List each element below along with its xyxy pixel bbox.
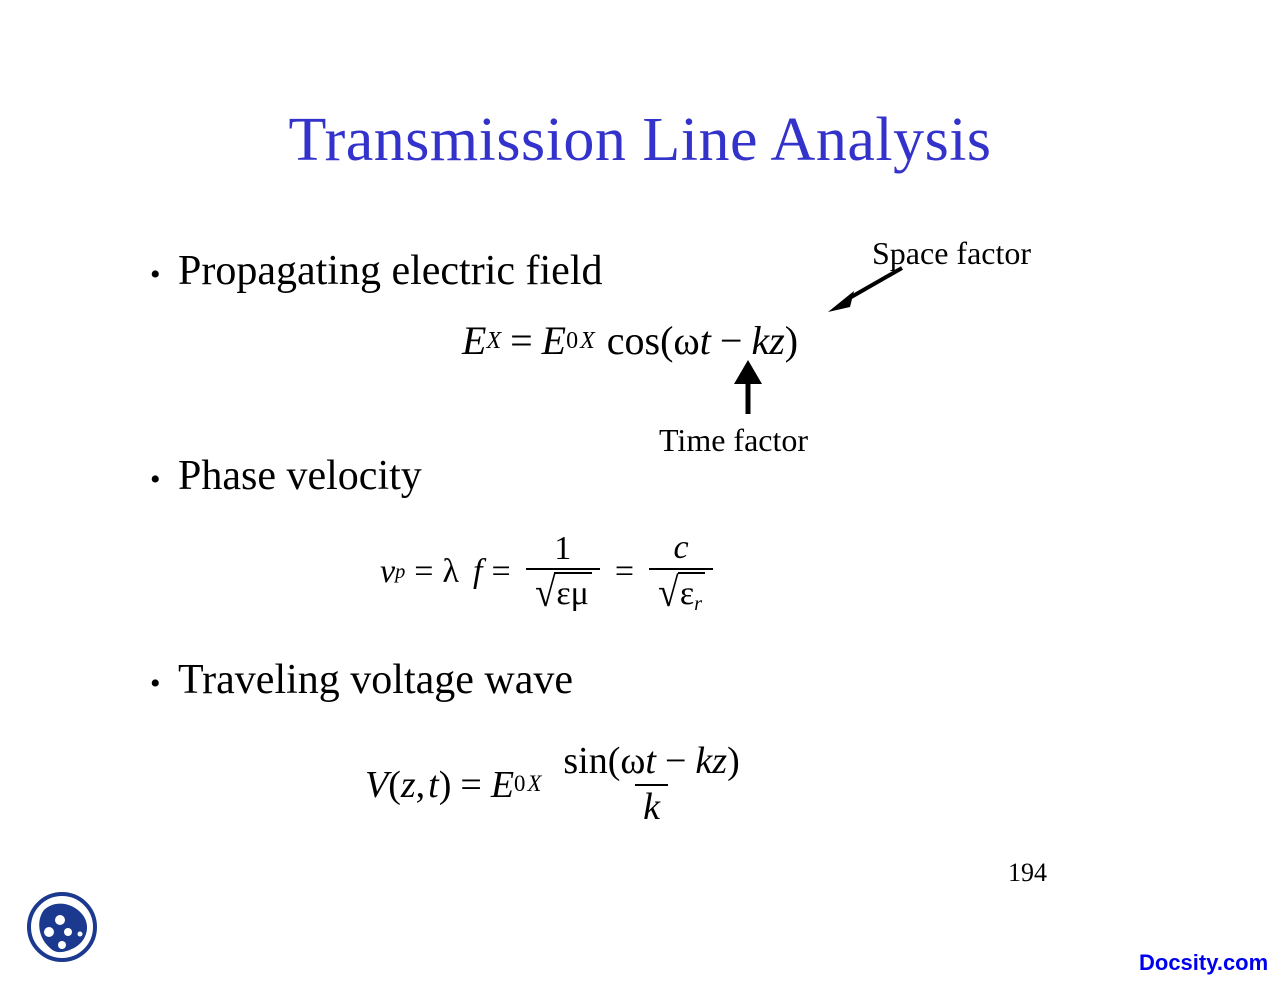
formula3-numerator: sin(ωt−kz) <box>555 742 747 784</box>
formula3-equals: = <box>460 763 481 807</box>
formula2-denominator-1: √ εμ <box>526 568 600 614</box>
formula2-lhs-sub: p <box>395 561 405 583</box>
formula2-fraction-1: 1 √ εμ <box>526 531 600 614</box>
formula1-lhs-sub: X <box>486 328 501 354</box>
formula3-amp-var: E <box>491 763 514 807</box>
formula-voltage-wave: V(z,t) = E0X sin(ωt−kz) k <box>365 742 754 828</box>
bullet-item-phase-velocity: • Phase velocity <box>150 453 422 499</box>
formula3-fraction: sin(ωt−kz) k <box>555 742 747 828</box>
bullet-item-propagating-electric-field: • Propagating electric field <box>150 248 603 294</box>
formula3-num-t: t <box>645 740 656 782</box>
formula2-f-var: f <box>473 553 482 591</box>
formula3-minus: − <box>665 740 686 782</box>
slide-canvas: Transmission Line Analysis • Propagating… <box>0 0 1280 989</box>
formula3-omega: ω <box>620 740 645 782</box>
bullet-label: Phase velocity <box>178 453 422 499</box>
formula2-fraction-2: c √ εr <box>649 530 713 615</box>
formula3-num-close: ) <box>727 740 740 782</box>
formula3-comma: , <box>416 763 426 807</box>
formula3-t-var: t <box>428 763 439 807</box>
formula1-lhs-var: E <box>462 317 486 364</box>
bullet-marker-icon: • <box>150 669 178 699</box>
bullet-marker-icon: • <box>150 260 178 290</box>
formula2-numerator-1: 1 <box>546 531 579 569</box>
formula3-amp-sub: 0 <box>514 771 525 796</box>
formula1-minus: − <box>720 317 743 364</box>
formula3-open-paren: ( <box>388 763 401 807</box>
formula2-lambda: λ <box>442 553 459 591</box>
formula1-cos: cos( <box>607 317 674 364</box>
formula1-equals: = <box>510 317 533 364</box>
docsity-watermark: Docsity.com <box>1139 950 1268 976</box>
radical-glyph: √ <box>535 572 555 613</box>
formula2-equals-2: = <box>491 553 510 591</box>
formula1-k-var: k <box>751 317 769 364</box>
formula3-denominator: k <box>635 784 668 828</box>
formula2-radicand-1: εμ <box>554 572 592 613</box>
page-number: 194 <box>1008 858 1047 888</box>
formula2-denominator-2: √ εr <box>649 568 713 615</box>
formula2-equals-1: = <box>414 553 433 591</box>
formula1-time-var: t <box>700 317 711 364</box>
formula1-omega: ω <box>673 317 699 364</box>
space-factor-arrow-icon <box>820 258 910 318</box>
sqrt-icon: √ εr <box>657 572 705 615</box>
formula3-num-z: z <box>712 740 727 782</box>
formula2-numerator-2: c <box>666 530 697 568</box>
formula-phase-velocity: vp = λ f = 1 √ εμ = c √ εr <box>380 530 719 615</box>
bullet-item-traveling-voltage-wave: • Traveling voltage wave <box>150 657 573 703</box>
formula1-amp-sub2: X <box>580 328 595 354</box>
formula-electric-field: EX = E0X cos(ωt − kz) <box>462 317 798 364</box>
formula3-num-k: k <box>695 740 712 782</box>
formula1-close-paren: ) <box>785 317 798 364</box>
radical-glyph: √ <box>658 572 678 615</box>
formula2-radicand-2: εr <box>678 572 705 615</box>
docsity-cookie-logo <box>24 888 100 966</box>
formula2-eps-sub: r <box>694 593 702 615</box>
formula2-lhs-var: v <box>380 553 395 591</box>
sqrt-icon: √ εμ <box>534 572 592 613</box>
formula3-lhs: V <box>365 763 388 807</box>
formula3-sin: sin( <box>563 740 620 782</box>
formula1-amp-sub: 0 <box>566 328 578 354</box>
bullet-marker-icon: • <box>150 465 178 495</box>
formula3-close-paren: ) <box>439 763 452 807</box>
formula3-amp-sub2: X <box>527 771 541 796</box>
formula1-amp-var: E <box>542 317 566 364</box>
bullet-label: Propagating electric field <box>178 248 603 294</box>
bullet-label: Traveling voltage wave <box>178 657 573 703</box>
formula3-z-var: z <box>401 763 416 807</box>
time-factor-arrow-icon <box>726 358 770 416</box>
formula1-z-var: z <box>769 317 785 364</box>
formula2-eps: ε <box>680 575 694 612</box>
annotation-time-factor: Time factor <box>659 423 808 458</box>
page-title: Transmission Line Analysis <box>0 108 1280 173</box>
formula2-equals-3: = <box>615 553 634 591</box>
